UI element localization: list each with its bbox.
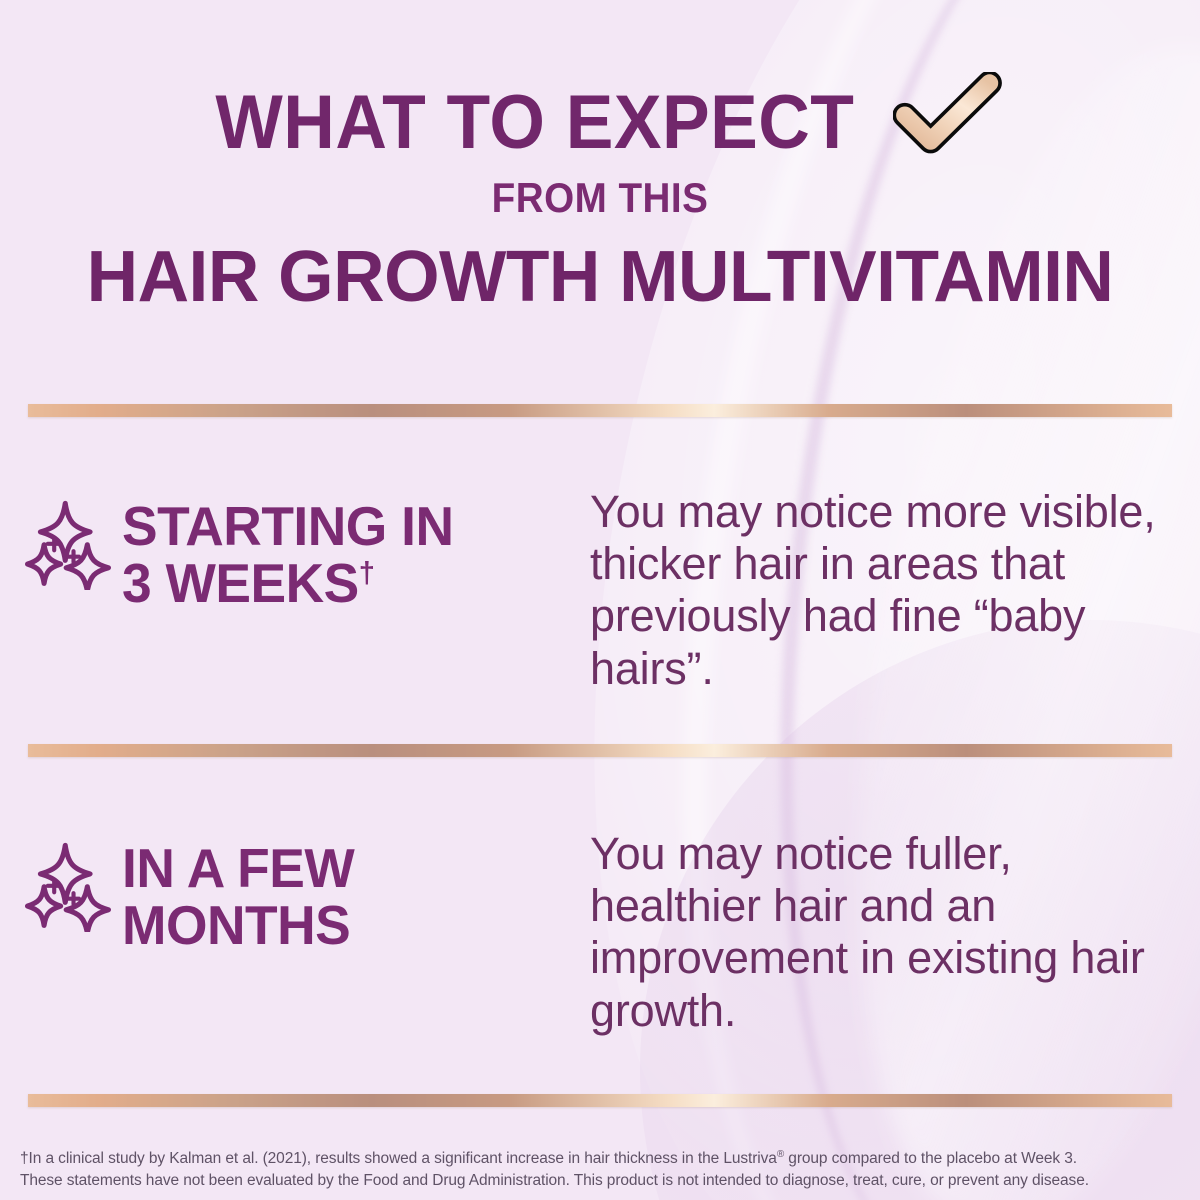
- sparkles-icon: [22, 494, 114, 590]
- what-to-expect-poster: WHAT TO EXPECT FROM THIS HAIR GRO: [0, 0, 1200, 1200]
- sparkles-icon: [22, 836, 114, 932]
- registered-mark-icon: ®: [777, 1149, 784, 1160]
- footnote-clinical-study: †In a clinical study by Kalman et al. (2…: [20, 1148, 1180, 1170]
- page-subtitle: FROM THIS: [48, 174, 1152, 222]
- footnotes: †In a clinical study by Kalman et al. (2…: [20, 1148, 1180, 1192]
- footnote-fda-disclaimer: These statements have not been evaluated…: [20, 1170, 1180, 1192]
- row-heading: STARTING IN 3 WEEKS†: [122, 498, 454, 612]
- page-title: WHAT TO EXPECT: [216, 87, 855, 160]
- divider-bottom: [28, 1094, 1172, 1107]
- checkmark-icon: [893, 72, 1005, 164]
- row-heading-line-2: MONTHS: [122, 894, 350, 956]
- expectation-row-starting-in-3-weeks: STARTING IN 3 WEEKS† You may notice more…: [0, 486, 1200, 695]
- footnote-line-1-pre: †In a clinical study by Kalman et al. (2…: [20, 1150, 777, 1167]
- title-row: WHAT TO EXPECT: [0, 82, 1200, 164]
- expectation-row-in-a-few-months: IN A FEW MONTHS You may notice fuller, h…: [0, 828, 1200, 1037]
- divider-top: [28, 404, 1172, 417]
- row-left: IN A FEW MONTHS: [0, 828, 590, 954]
- row-heading-marker: †: [359, 557, 375, 590]
- row-heading: IN A FEW MONTHS: [122, 840, 354, 954]
- row-left: STARTING IN 3 WEEKS†: [0, 486, 590, 612]
- row-heading-line-1: IN A FEW: [122, 837, 354, 899]
- row-body-text: You may notice fuller, healthier hair an…: [590, 828, 1200, 1037]
- row-body-text: You may notice more visible, thicker hai…: [590, 486, 1200, 695]
- divider-middle: [28, 744, 1172, 757]
- row-heading-line-2: 3 WEEKS: [122, 552, 359, 614]
- footnote-line-1-post: group compared to the placebo at Week 3.: [784, 1150, 1077, 1167]
- row-heading-line-1: STARTING IN: [122, 495, 454, 557]
- page-product-title: HAIR GROWTH MULTIVITAMIN: [6, 236, 1194, 318]
- header: WHAT TO EXPECT FROM THIS HAIR GRO: [0, 0, 1200, 318]
